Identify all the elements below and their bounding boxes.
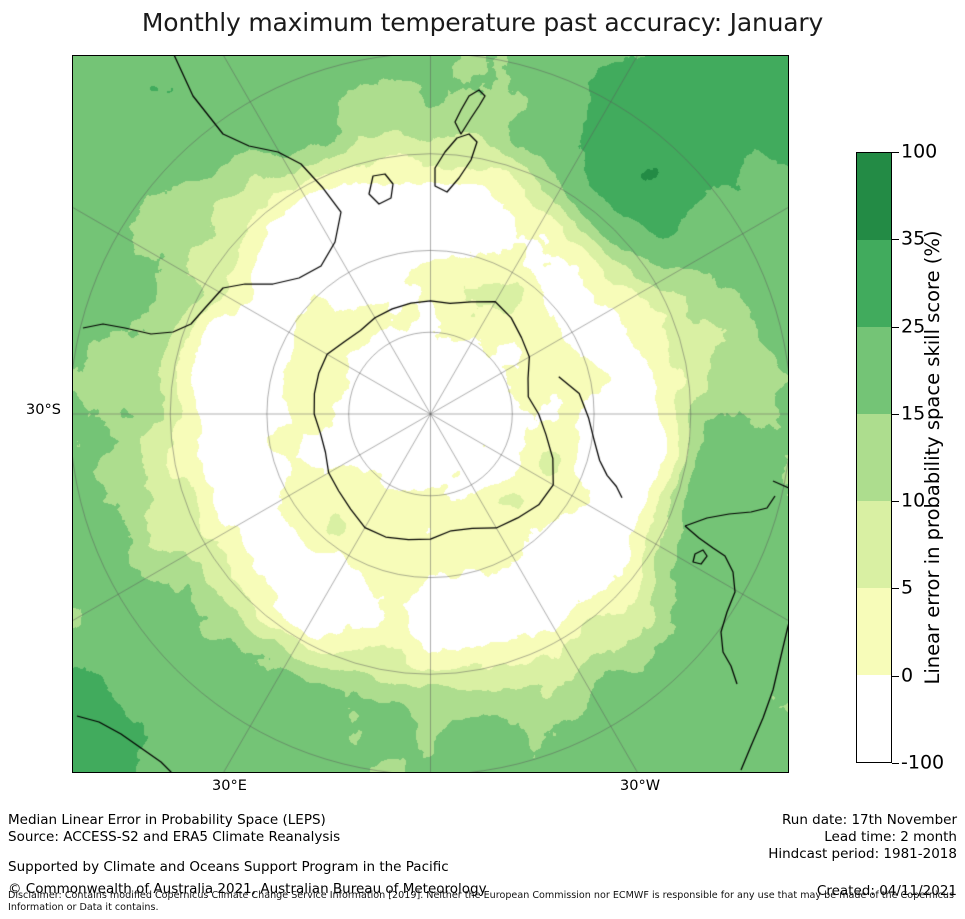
colorbar-tick-5 (892, 588, 899, 589)
axis-label-30w: 30°W (620, 778, 660, 794)
footer-support-line: Supported by Climate and Oceans Support … (8, 859, 487, 876)
footer-leps-line: Median Linear Error in Probability Space… (8, 812, 487, 829)
run-date: Run date: 17th November (768, 812, 957, 829)
colorbar-tick-1 (892, 239, 899, 240)
colorbar-band-5 (857, 588, 891, 675)
axis-label-30s: 30°S (26, 402, 61, 418)
axis-label-30e: 30°E (212, 778, 247, 794)
colorbar-band-2 (857, 327, 891, 414)
footer-left: Median Linear Error in Probability Space… (8, 812, 487, 898)
colorbar-tick-0 (892, 152, 899, 153)
colorbar-tick-4 (892, 501, 899, 502)
colorbar-tick-7 (892, 763, 899, 764)
colorbar-band-3 (857, 414, 891, 501)
colorbar-tick-label-5: 5 (901, 579, 913, 598)
colorbar-band-1 (857, 240, 891, 327)
colorbar-band-4 (857, 501, 891, 588)
lead-time: Lead time: 2 month (768, 829, 957, 846)
page-title: Monthly maximum temperature past accurac… (0, 8, 965, 37)
colorbar-tick-6 (892, 676, 899, 677)
colorbar-axis-label: Linear error in probability space skill … (921, 152, 949, 763)
colorbar-band-0 (857, 153, 891, 240)
footer-right: Run date: 17th November Lead time: 2 mon… (768, 812, 957, 900)
colorbar-tick-3 (892, 414, 899, 415)
disclaimer-line-2: Information or Data it contains. (8, 902, 958, 914)
hindcast-period: Hindcast period: 1981-2018 (768, 846, 957, 863)
colorbar: 1003525151050-100 (856, 152, 892, 763)
map-panel[interactable] (72, 55, 789, 773)
colorbar-bands (856, 152, 892, 763)
map-heatmap-canvas (73, 56, 788, 772)
colorbar-band-6 (857, 675, 891, 762)
disclaimer-line-1: Disclaimer: Contains modified Copernicus… (8, 890, 958, 902)
colorbar-tick-label-6: 0 (901, 666, 913, 685)
colorbar-tick-2 (892, 327, 899, 328)
disclaimer: Disclaimer: Contains modified Copernicus… (8, 890, 958, 914)
footer-source-line: Source: ACCESS-S2 and ERA5 Climate Reana… (8, 829, 487, 846)
